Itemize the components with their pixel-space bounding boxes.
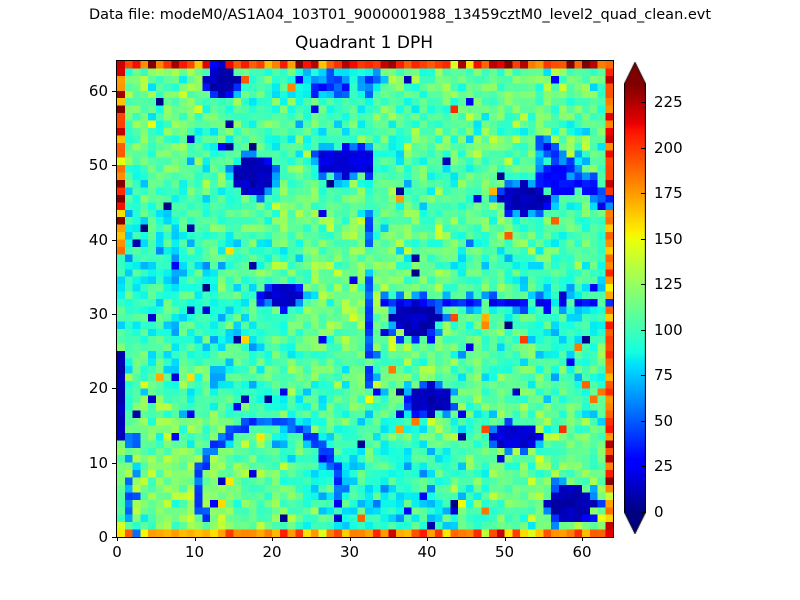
colorbar-tick-label: 25: [654, 458, 673, 474]
x-tick-mark: [272, 537, 273, 541]
colorbar-tick-mark: [641, 512, 646, 513]
x-tick-label: 10: [185, 544, 204, 560]
colorbar-tick-label: 225: [654, 94, 683, 110]
colorbar-tick-mark: [641, 102, 646, 103]
colorbar-gradient: [624, 62, 646, 534]
heatmap-axes: [116, 60, 614, 538]
x-tick-mark: [195, 537, 196, 541]
colorbar: [624, 62, 646, 534]
x-tick-mark: [505, 537, 506, 541]
data-file-suptitle: Data file: modeM0/AS1A04_103T01_90000019…: [0, 6, 800, 24]
colorbar-tick-mark: [641, 375, 646, 376]
figure-canvas: Data file: modeM0/AS1A04_103T01_90000019…: [0, 0, 800, 600]
colorbar-tick-label: 75: [654, 367, 673, 383]
x-tick-label: 60: [572, 544, 591, 560]
y-tick-mark: [112, 388, 116, 389]
x-tick-label: 30: [340, 544, 359, 560]
y-tick-mark: [112, 91, 116, 92]
y-tick-label: 30: [68, 306, 108, 322]
x-tick-label: 50: [495, 544, 514, 560]
y-tick-label: 40: [68, 232, 108, 248]
x-tick-mark: [427, 537, 428, 541]
x-tick-label: 20: [262, 544, 281, 560]
colorbar-tick-mark: [641, 284, 646, 285]
y-tick-mark: [112, 537, 116, 538]
colorbar-tick-label: 125: [654, 276, 683, 292]
colorbar-tick-mark: [641, 193, 646, 194]
page-title: Quadrant 1 DPH: [116, 33, 612, 54]
x-tick-mark: [350, 537, 351, 541]
heatmap-image: [117, 61, 613, 537]
colorbar-tick-label: 150: [654, 231, 683, 247]
y-tick-label: 10: [68, 455, 108, 471]
y-tick-mark: [112, 165, 116, 166]
colorbar-tick-label: 100: [654, 322, 683, 338]
y-tick-label: 50: [68, 157, 108, 173]
y-tick-label: 20: [68, 380, 108, 396]
y-tick-mark: [112, 240, 116, 241]
colorbar-tick-label: 50: [654, 413, 673, 429]
colorbar-tick-label: 175: [654, 185, 683, 201]
colorbar-tick-mark: [641, 330, 646, 331]
colorbar-tick-mark: [641, 239, 646, 240]
x-tick-label: 0: [112, 544, 122, 560]
y-tick-mark: [112, 314, 116, 315]
colorbar-tick-label: 200: [654, 140, 683, 156]
y-tick-label: 60: [68, 83, 108, 99]
colorbar-tick-label: 0: [654, 504, 664, 520]
colorbar-tick-mark: [641, 421, 646, 422]
x-tick-mark: [117, 537, 118, 541]
colorbar-tick-mark: [641, 466, 646, 467]
x-tick-label: 40: [417, 544, 436, 560]
y-tick-label: 0: [68, 529, 108, 545]
colorbar-tick-mark: [641, 148, 646, 149]
y-tick-mark: [112, 463, 116, 464]
x-tick-mark: [582, 537, 583, 541]
